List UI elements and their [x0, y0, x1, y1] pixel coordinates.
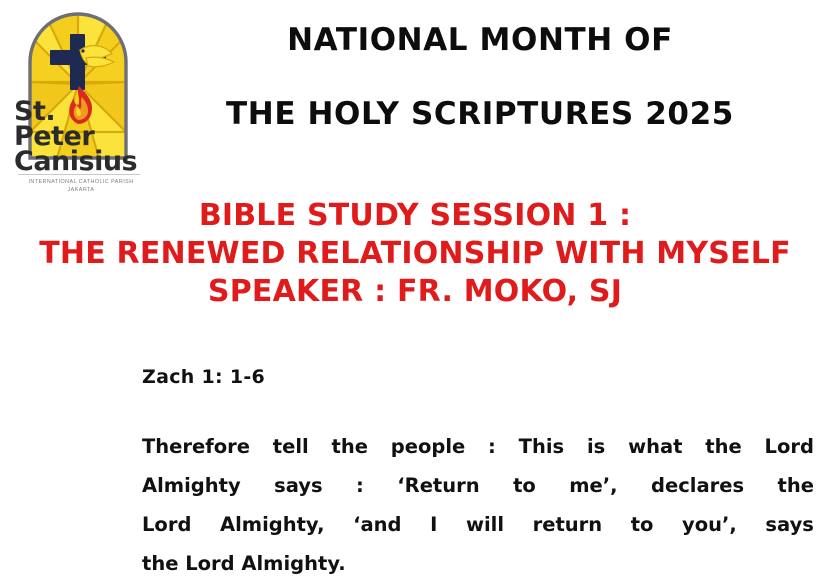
logo-wordmark: St. Peter Canisius [14, 100, 148, 174]
passage-line-2: Almightysays:‘Returntome’,declaresthe [142, 466, 814, 505]
slide-header: NATIONAL MONTH OF THE HOLY SCRIPTURES 20… [150, 8, 810, 136]
session-title-line-3: SPEAKER : FR. MOKO, SJ [0, 273, 830, 311]
scripture-passage: Thereforetellthepeople:ThisiswhattheLord… [142, 427, 814, 583]
slide-canvas: St. Peter Canisius INTERNATIONAL CATHOLI… [0, 0, 830, 588]
parish-logo: St. Peter Canisius INTERNATIONAL CATHOLI… [8, 2, 148, 198]
logo-subtitle-line-1: INTERNATIONAL CATHOLIC PARISH [14, 178, 148, 186]
logo-divider [18, 174, 140, 175]
passage-line-1: Thereforetellthepeople:ThisiswhattheLord [142, 427, 814, 466]
logo-wordmark-line-3: Canisius [14, 150, 148, 175]
header-line-1: NATIONAL MONTH OF [150, 8, 810, 62]
session-title-line-2: THE RENEWED RELATIONSHIP WITH MYSELF [0, 235, 830, 273]
session-title-line-1: BIBLE STUDY SESSION 1 : [0, 197, 830, 235]
passage-line-3: LordAlmighty,‘andIwillreturntoyou’,says [142, 505, 814, 544]
logo-subtitle: INTERNATIONAL CATHOLIC PARISH JAKARTA [14, 178, 148, 194]
passage-line-4: the Lord Almighty. [142, 544, 814, 583]
session-title: BIBLE STUDY SESSION 1 : THE RENEWED RELA… [0, 197, 830, 311]
logo-subtitle-line-2: JAKARTA [14, 186, 148, 194]
scripture-reference: Zach 1: 1-6 [142, 366, 265, 388]
header-line-2: THE HOLY SCRIPTURES 2025 [150, 62, 810, 136]
